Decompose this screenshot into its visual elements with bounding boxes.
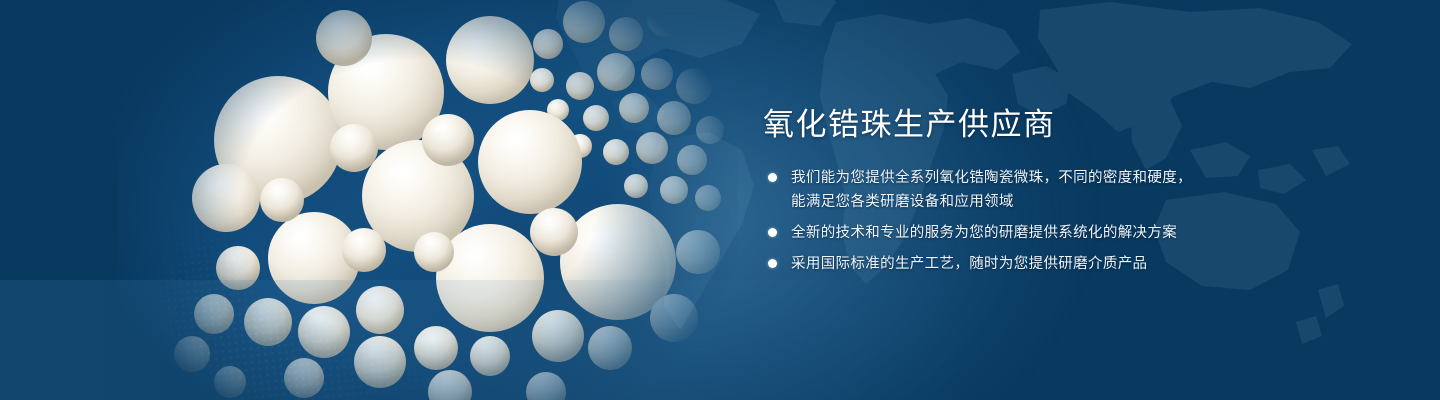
bullet-dot-icon <box>768 173 777 182</box>
bullet-item-2: 全新的技术和专业的服务为您的研磨提供系统化的解决方案 <box>763 221 1383 245</box>
bullet-dot-icon <box>768 259 777 268</box>
bullet-item-3: 采用国际标准的生产工艺，随时为您提供研磨介质产品 <box>763 252 1383 276</box>
bullet-dot-icon <box>768 228 777 237</box>
bullet-item-1-line-2: 能满足您各类研磨设备和应用领域 <box>791 190 1383 214</box>
banner-content: 氧化锆珠生产供应商 我们能为您提供全系列氧化锆陶瓷微珠，不同的密度和硬度， 能满… <box>763 104 1383 283</box>
bullet-item-2-line-1: 全新的技术和专业的服务为您的研磨提供系统化的解决方案 <box>791 221 1383 245</box>
banner-headline: 氧化锆珠生产供应商 <box>763 104 1383 146</box>
feature-bullet-list: 我们能为您提供全系列氧化锆陶瓷微珠，不同的密度和硬度， 能满足您各类研磨设备和应… <box>763 166 1383 276</box>
bullet-item-3-line-1: 采用国际标准的生产工艺，随时为您提供研磨介质产品 <box>791 252 1383 276</box>
bullet-item-1-line-1: 我们能为您提供全系列氧化锆陶瓷微珠，不同的密度和硬度， <box>791 166 1383 190</box>
bullet-item-1: 我们能为您提供全系列氧化锆陶瓷微珠，不同的密度和硬度， 能满足您各类研磨设备和应… <box>763 166 1383 214</box>
halftone-texture <box>139 153 491 400</box>
zirconia-beads-photo <box>118 0 738 400</box>
bottom-light-wash <box>0 280 980 400</box>
hero-banner: 氧化锆珠生产供应商 我们能为您提供全系列氧化锆陶瓷微珠，不同的密度和硬度， 能满… <box>0 0 1440 400</box>
